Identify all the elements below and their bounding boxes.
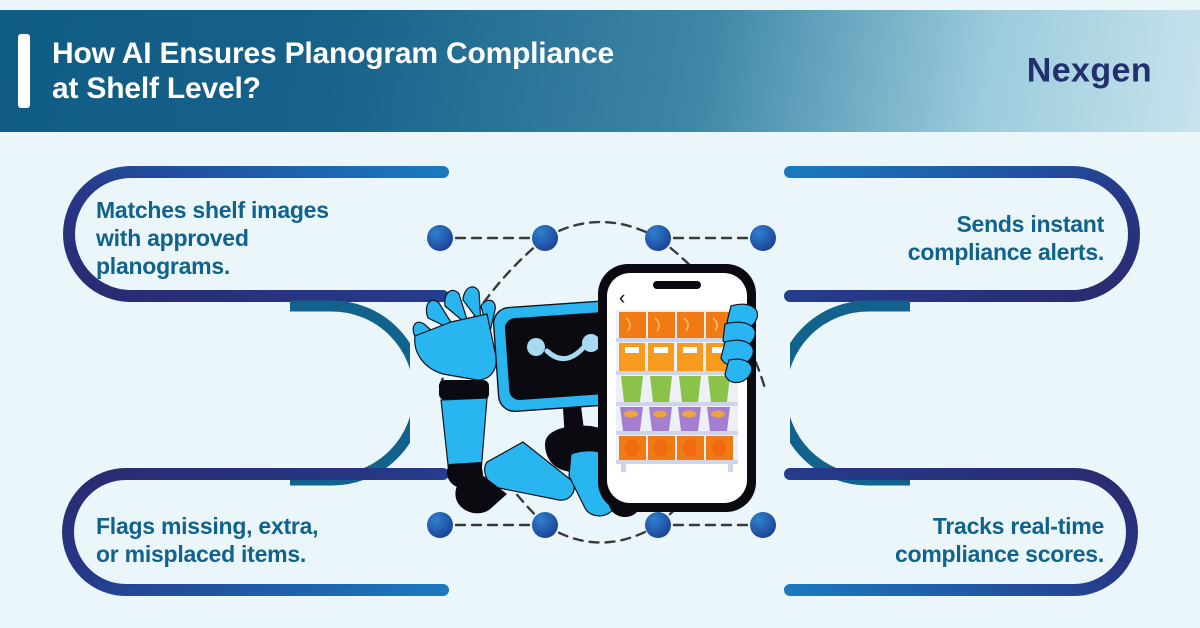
info-card-top-left-text: Matches shelf images with approved plano…	[96, 196, 329, 280]
info-card-top-right[interactable]: Sends instant compliance alerts.	[790, 166, 1142, 302]
robot-eye-left	[527, 338, 545, 356]
shelf-row-2	[616, 343, 738, 375]
info-card-bottom-right-text: Tracks real-time compliance scores.	[895, 512, 1104, 568]
info-card-bottom-left[interactable]: Flags missing, extra, or misplaced items…	[58, 468, 448, 596]
shelf-planogram	[616, 310, 738, 472]
robot-waving-hand	[413, 287, 496, 380]
info-card-bottom-left-text: Flags missing, extra, or misplaced items…	[96, 512, 318, 568]
back-chevron-icon[interactable]: ‹	[619, 288, 625, 309]
header-accent-bar	[18, 34, 30, 108]
robot-left-forearm	[439, 380, 489, 489]
phone-speaker	[653, 281, 701, 289]
info-card-top-left[interactable]: Matches shelf images with approved plano…	[58, 166, 448, 302]
page-title: How AI Ensures Planogram Compliance at S…	[52, 36, 614, 107]
brand-logo: Nexgen	[1027, 52, 1152, 91]
info-card-bottom-right[interactable]: Tracks real-time compliance scores.	[790, 468, 1142, 596]
robot-phone-illustration: ‹	[395, 248, 785, 528]
shelf-row-1	[616, 312, 738, 342]
header-banner: How AI Ensures Planogram Compliance at S…	[0, 10, 1200, 132]
info-card-top-right-text: Sends instant compliance alerts.	[908, 210, 1104, 266]
